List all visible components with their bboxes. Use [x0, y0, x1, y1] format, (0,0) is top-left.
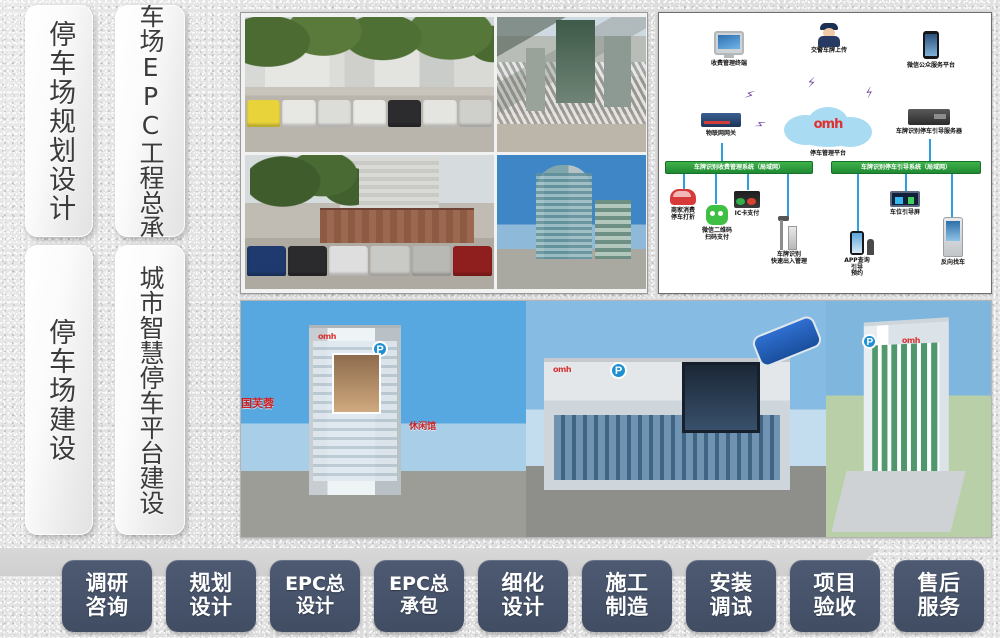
- car: [353, 100, 386, 127]
- car: [412, 246, 451, 276]
- smart-parking-network-diagram: ⚡ ⚡ ⚡ ⚡ omh 停车管理平台 收费管理终端 交警车牌上传 微信公众服务平…: [658, 12, 992, 294]
- tree-canopy: [250, 155, 359, 214]
- service-card-label: 停车场规划设计: [44, 20, 74, 223]
- storefront-sign-right: 休闲馆: [409, 419, 436, 432]
- car: [423, 100, 456, 127]
- process-step-planning-design[interactable]: 规划 设计: [166, 560, 256, 632]
- process-step-line1: 细化: [502, 572, 545, 596]
- node-charge-management-terminal: 收费管理终端: [681, 31, 777, 68]
- omh-logo: omh: [782, 117, 874, 132]
- process-step-line1: 项目: [814, 572, 857, 596]
- service-card-label: 城市智慧停车平台建设: [136, 265, 164, 515]
- process-step-line2: 服务: [918, 596, 961, 620]
- process-step-construction-manufacturing[interactable]: 施工 制造: [582, 560, 672, 632]
- photo-aerial-parking-view: [497, 17, 646, 152]
- system-bar-label: 车牌识别收费管理系统（局域网）: [694, 164, 784, 171]
- system-bar-label: 车牌识别停车引导系统（局域网）: [861, 164, 951, 171]
- system-bar-plate-charge: 车牌识别收费管理系统（局域网）: [665, 161, 813, 174]
- cloud-caption: 停车管理平台: [780, 151, 876, 158]
- node-label: 车牌识别停车引导服务器: [881, 129, 977, 136]
- server-icon: [908, 109, 950, 125]
- red-car-icon: [670, 189, 696, 205]
- node-traffic-police-plate-upload: 交警车牌上传: [781, 23, 877, 55]
- process-step-line2: 验收: [814, 596, 857, 620]
- process-step-line1: 施工: [606, 572, 649, 596]
- lightning-link-icon: ⚡: [862, 84, 877, 102]
- photo-street-parking-lot: [245, 17, 494, 152]
- endpoint-app-query-guidance-booking: APP查询 引导 预约: [811, 231, 903, 278]
- process-step-line1: 安装: [710, 572, 753, 596]
- lightning-link-icon: ⚡: [806, 74, 817, 91]
- node-iot-gateway: 物联网网关: [673, 113, 769, 138]
- led-screen-icon: [890, 191, 920, 207]
- storefront-sign-left: 国芙蓉: [241, 395, 274, 411]
- project-process-steps: 调研 咨询 规划 设计 EPC总 设计 EPC总 承包 细化 设计 施工 制造 …: [62, 560, 968, 632]
- node-wechat-public-service-platform: 微信公众服务平台: [883, 31, 979, 70]
- process-step-project-acceptance[interactable]: 项目 验收: [790, 560, 880, 632]
- billboard-advertisement: [332, 353, 380, 414]
- render-aerial-tower: P omh: [826, 301, 991, 537]
- project-photo-grid: [240, 12, 648, 294]
- node-label: 物联网网关: [673, 131, 769, 138]
- service-card-parking-epc-contracting[interactable]: 停车场EPC工程总承包: [115, 5, 185, 237]
- process-step-line1: 调研: [86, 572, 129, 596]
- process-step-research-consulting[interactable]: 调研 咨询: [62, 560, 152, 632]
- link-line: [951, 174, 953, 220]
- endpoint-parking-space-guidance-screen: 车位引导屏: [859, 191, 951, 217]
- smartphone-icon: [923, 31, 939, 59]
- process-step-installation-commissioning[interactable]: 安装 调试: [686, 560, 776, 632]
- process-step-line1: 售后: [918, 572, 961, 596]
- endpoint-label: 车位引导屏: [859, 210, 951, 217]
- endpoint-label: 反向找车: [907, 260, 992, 267]
- process-step-line2: 设计: [502, 596, 545, 620]
- process-step-line2: 咨询: [86, 596, 129, 620]
- process-step-line2: 承包: [400, 596, 438, 618]
- link-line: [747, 174, 749, 190]
- car: [370, 246, 409, 276]
- process-step-line1: 规划: [190, 572, 233, 596]
- parking-management-cloud: omh: [782, 105, 874, 151]
- endpoint-label: APP查询 引导 预约: [811, 258, 903, 278]
- process-step-line2: 调试: [710, 596, 753, 620]
- omh-logo: omh: [318, 332, 336, 341]
- photo-glass-office-tower: [497, 155, 646, 290]
- node-label: 交警车牌上传: [781, 48, 877, 55]
- process-step-line1: EPC总: [285, 574, 345, 596]
- service-card-parking-planning-design[interactable]: 停车场规划设计: [25, 5, 93, 237]
- process-step-epc-general-design[interactable]: EPC总 设计: [270, 560, 360, 632]
- car-row: [245, 246, 494, 276]
- service-card-smart-parking-platform[interactable]: 城市智慧停车平台建设: [115, 245, 185, 535]
- cloud-label: 停车管理平台: [780, 151, 876, 158]
- car: [282, 100, 315, 127]
- car: [288, 246, 327, 276]
- node-label: 微信公众服务平台: [883, 63, 979, 70]
- process-step-line1: EPC总: [389, 574, 449, 596]
- project-rendering-panel: omh P 国芙蓉 休闲馆 omh P P omh: [240, 300, 992, 538]
- render-mechanical-garage: omh P: [526, 301, 826, 537]
- car: [318, 100, 351, 127]
- network-gateway-icon: [701, 113, 741, 127]
- endpoint-reverse-car-finding: 反向找车: [907, 217, 992, 267]
- process-step-epc-general-contracting[interactable]: EPC总 承包: [374, 560, 464, 632]
- car: [388, 100, 421, 127]
- process-step-after-sales-service[interactable]: 售后 服务: [894, 560, 984, 632]
- process-step-detailed-design[interactable]: 细化 设计: [478, 560, 568, 632]
- endpoint-ic-card-payment: IC卡支付: [701, 191, 793, 218]
- car: [247, 100, 280, 127]
- process-step-line2: 设计: [296, 596, 334, 618]
- car-row: [245, 100, 494, 127]
- car: [459, 100, 492, 127]
- barrier-gate-icon: [778, 216, 800, 250]
- photo-lot-with-brick-building: [245, 155, 494, 290]
- render-vertical-parking-tower: omh P 国芙蓉 休闲馆: [241, 301, 526, 537]
- link-line: [929, 139, 931, 161]
- kiosk-icon: [943, 217, 963, 257]
- monitor-icon: [714, 31, 744, 55]
- led-advertising-board: [682, 362, 760, 433]
- lightning-link-icon: ⚡: [743, 86, 757, 104]
- system-bar-plate-guidance: 车牌识别停车引导系统（局域网）: [831, 161, 981, 174]
- node-label: 收费管理终端: [681, 61, 777, 68]
- link-line: [721, 143, 723, 161]
- ic-card-icon: [734, 191, 760, 208]
- car: [329, 246, 368, 276]
- police-officer-icon: [818, 23, 840, 47]
- process-step-line2: 设计: [190, 596, 233, 620]
- car: [453, 246, 492, 276]
- mobile-app-icon: [850, 231, 864, 255]
- omh-logo: omh: [553, 365, 571, 374]
- service-card-label: 停车场建设: [44, 318, 74, 463]
- service-card-label: 停车场EPC工程总承包: [136, 5, 164, 237]
- process-step-line2: 制造: [606, 596, 649, 620]
- car: [247, 246, 286, 276]
- adjacent-building: [595, 200, 631, 259]
- service-card-parking-construction[interactable]: 停车场建设: [25, 245, 93, 535]
- omh-logo: omh: [902, 336, 920, 345]
- node-plate-recognition-guidance-server: 车牌识别停车引导服务器: [881, 109, 977, 136]
- entrance-plaza: [832, 471, 966, 532]
- link-line: [683, 174, 685, 190]
